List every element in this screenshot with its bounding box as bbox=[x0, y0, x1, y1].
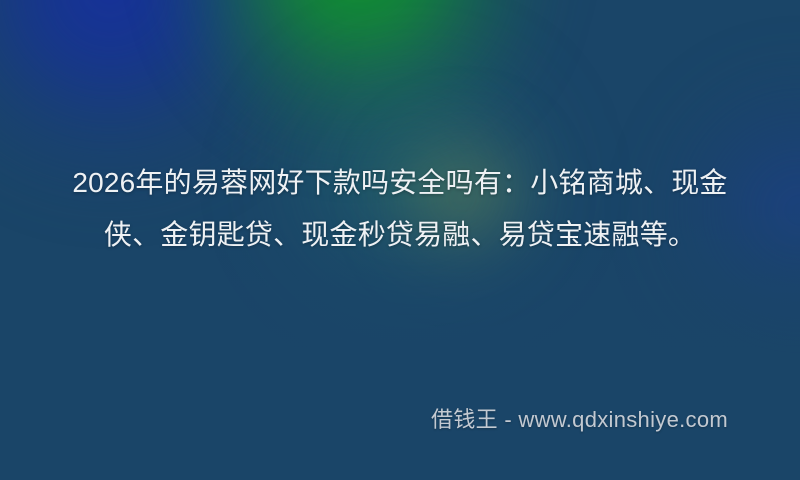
headline-text: 2026年的易蓉网好下款吗安全吗有：小铭商城、现金侠、金钥匙贷、现金秒贷易融、易… bbox=[50, 157, 750, 261]
banner-image: 2026年的易蓉网好下款吗安全吗有：小铭商城、现金侠、金钥匙贷、现金秒贷易融、易… bbox=[0, 0, 800, 480]
watermark-text: 借钱王 - www.qdxinshiye.com bbox=[0, 405, 728, 435]
